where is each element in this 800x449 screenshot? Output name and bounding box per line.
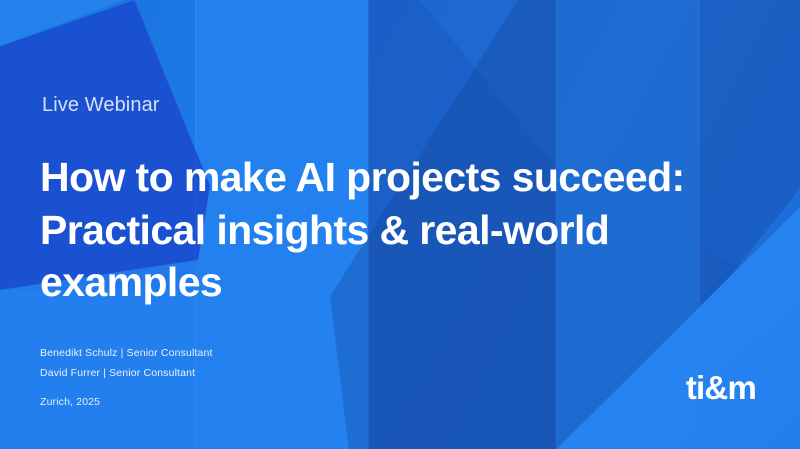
- title-line-2: Practical insights & real-world: [40, 204, 770, 256]
- tim-logo: ti&m: [686, 371, 756, 404]
- location-label: Zurich, 2025: [40, 396, 100, 408]
- speaker-item: Benedikt Schulz | Senior Consultant: [40, 344, 213, 364]
- speaker-item: David Furrer | Senior Consultant: [40, 364, 213, 384]
- title-line-1: How to make AI projects succeed:: [40, 151, 770, 203]
- page-title: How to make AI projects succeed: Practic…: [40, 151, 770, 308]
- title-slide: Live Webinar How to make AI projects suc…: [0, 0, 800, 449]
- speaker-list: Benedikt Schulz | Senior Consultant Davi…: [40, 344, 213, 383]
- title-line-3: examples: [40, 256, 770, 308]
- eyebrow-label: Live Webinar: [42, 94, 160, 117]
- slide-content: Live Webinar How to make AI projects suc…: [0, 0, 800, 449]
